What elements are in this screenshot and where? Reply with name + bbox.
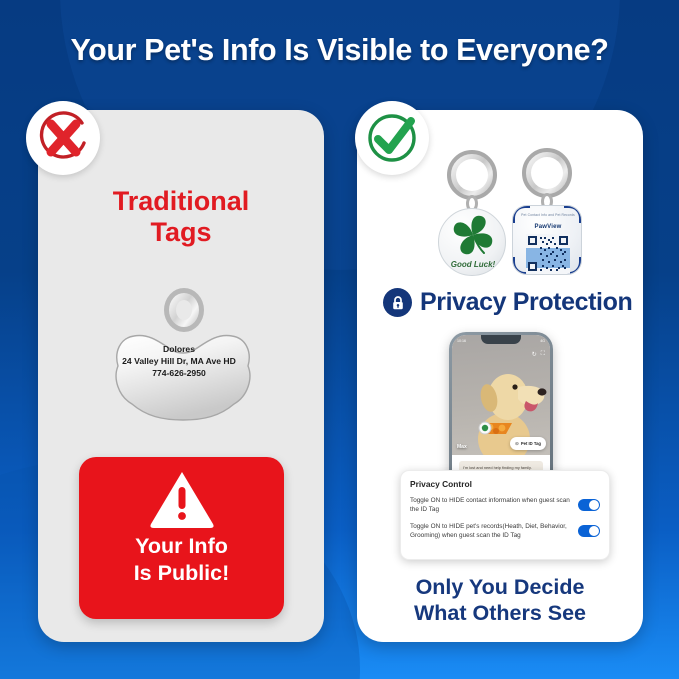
clover-keytag: Good Luck!: [435, 150, 509, 284]
footer-line-2: What Others See: [357, 600, 643, 626]
lock-icon: [383, 288, 412, 317]
keyring-icon: [447, 150, 497, 200]
qr-brand-label: PawView: [513, 224, 582, 230]
privacy-protection-heading: Privacy Protection: [383, 288, 632, 317]
qr-keytag: Pet Contact Info and Pet Records PawView: [510, 148, 584, 282]
pet-id-tag-button[interactable]: ☉ Pet ID Tag: [510, 437, 546, 450]
privacy-protection-label: Privacy Protection: [420, 288, 632, 317]
rotate-icon[interactable]: ↻: [532, 351, 537, 358]
toggle-hide-records[interactable]: [578, 525, 600, 537]
toggle-label-records: Toggle ON to HIDE pet's records(Heath, D…: [410, 522, 571, 541]
check-badge: [355, 101, 429, 175]
warning-text: Your Info Is Public!: [79, 533, 284, 588]
toggle-hide-contact[interactable]: [578, 499, 600, 511]
x-badge: [26, 101, 100, 175]
qr-arc-text: Pet Contact Info and Pet Records: [513, 213, 582, 217]
footer-tagline: Only You Decide What Others See: [357, 574, 643, 627]
pet-name-label: Max: [457, 444, 467, 450]
four-leaf-clover-icon: [439, 209, 506, 259]
phone-notch: [481, 335, 521, 344]
warning-line-1: Your Info: [79, 533, 284, 560]
warning-line-2: Is Public!: [79, 560, 284, 587]
infographic-root: Your Pet's Info Is Visible to Everyone? …: [0, 0, 679, 679]
clover-tag-face: Good Luck!: [438, 208, 506, 276]
privacy-control-row: Toggle ON to HIDE pet's records(Heath, D…: [410, 522, 600, 541]
page-title: Your Pet's Info Is Visible to Everyone?: [0, 33, 679, 68]
qr-tag-face: Pet Contact Info and Pet Records PawView: [512, 205, 582, 275]
status-signal: 4G: [540, 339, 545, 343]
clover-caption: Good Luck!: [439, 260, 506, 269]
public-info-warning-card: Your Info Is Public!: [79, 457, 284, 619]
keyring-icon: [522, 148, 572, 198]
toggle-label-contact: Toggle ON to HIDE contact information wh…: [410, 496, 571, 515]
tag-address: 24 Valley Hill Dr, MA Ave HD: [108, 355, 250, 367]
warning-triangle-icon: [149, 470, 215, 533]
tag-pet-name: Dolores: [108, 343, 250, 355]
tag-engraved-text: Dolores 24 Valley Hill Dr, MA Ave HD 774…: [108, 343, 250, 380]
tag-icon: ☉: [515, 441, 519, 446]
qr-code-icon: [513, 232, 582, 275]
privacy-control-title: Privacy Control: [410, 479, 600, 489]
heading-line-2: Tags: [38, 217, 324, 248]
photo-tools[interactable]: ↻ ⛶: [532, 351, 545, 358]
x-mark-icon: [34, 109, 92, 167]
heading-line-1: Traditional: [38, 186, 324, 217]
pet-id-tag-label: Pet ID Tag: [521, 441, 541, 446]
tag-phone: 774-626-2950: [108, 367, 250, 379]
privacy-control-row: Toggle ON to HIDE contact information wh…: [410, 496, 600, 515]
metal-tag-graphic: Dolores 24 Valley Hill Dr, MA Ave HD 774…: [108, 288, 258, 433]
expand-icon[interactable]: ⛶: [541, 351, 545, 358]
status-time: 10:16: [457, 339, 466, 343]
traditional-tags-heading: Traditional Tags: [38, 186, 324, 247]
pet-photo: ↻ ⛶ Max ☉ Pet ID Tag: [452, 335, 550, 455]
check-mark-icon: [363, 109, 421, 167]
privacy-control-card: Privacy Control Toggle ON to HIDE contac…: [400, 470, 610, 560]
footer-line-1: Only You Decide: [357, 574, 643, 600]
